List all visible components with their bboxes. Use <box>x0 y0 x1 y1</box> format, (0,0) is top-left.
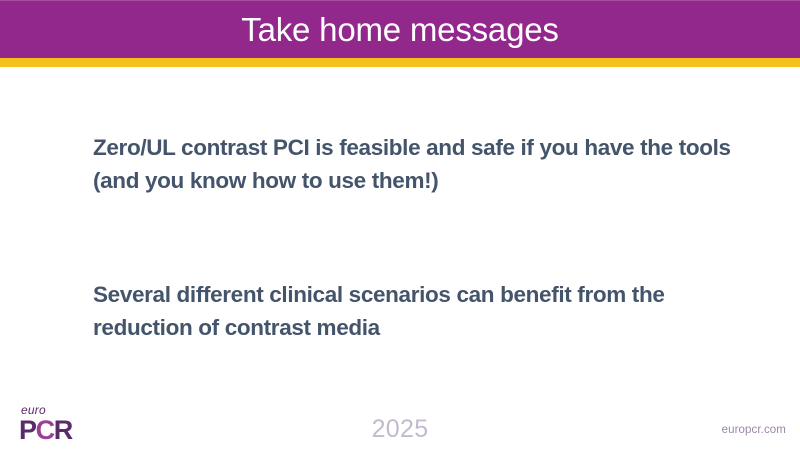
year-label: 2025 <box>0 415 800 443</box>
slide-body: Zero/UL contrast PCI is feasible and saf… <box>93 131 733 344</box>
accent-divider <box>0 58 800 67</box>
slide-canvas: Take home messages Zero/UL contrast PCI … <box>0 0 800 450</box>
slide-title-band: Take home messages <box>0 0 800 58</box>
page-title: Take home messages <box>241 13 558 46</box>
body-paragraph: Zero/UL contrast PCI is feasible and saf… <box>93 131 733 197</box>
body-paragraph: Several different clinical scenarios can… <box>93 278 733 344</box>
website-label: europcr.com <box>722 423 786 437</box>
